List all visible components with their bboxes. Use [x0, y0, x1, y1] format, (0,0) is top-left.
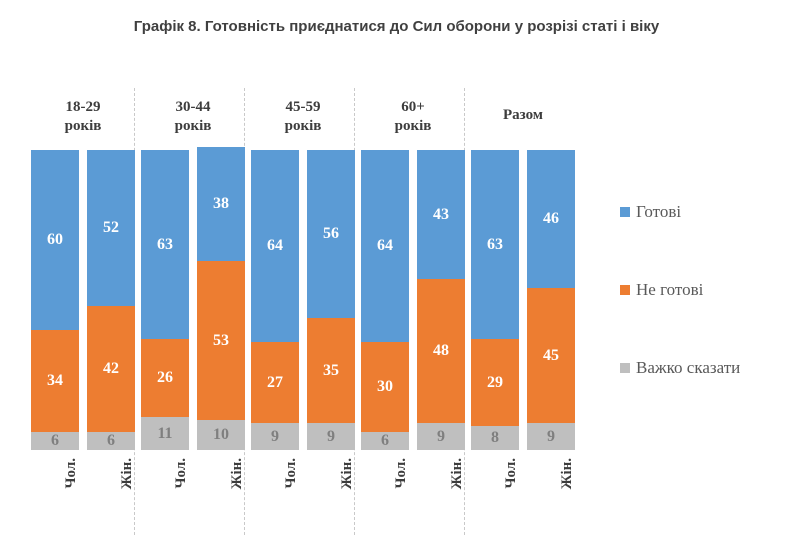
- bar-value-label: 56: [323, 226, 339, 242]
- bar-column[interactable]: 60346: [31, 150, 79, 450]
- bar-value-label: 29: [487, 375, 503, 391]
- bar-segment-hard-to-say[interactable]: 11: [141, 417, 189, 450]
- group-header-line2: років: [141, 117, 245, 136]
- bar-segment-not-ready[interactable]: 42: [87, 306, 135, 432]
- bar-value-label: 48: [433, 343, 449, 359]
- bar-value-label: 6: [381, 433, 389, 449]
- bar-segment-not-ready[interactable]: 45: [527, 288, 575, 423]
- bar-value-label: 52: [103, 220, 119, 236]
- bar-value-label: 8: [491, 430, 499, 446]
- bar-value-label: 46: [543, 211, 559, 227]
- bar-segment-hard-to-say[interactable]: 10: [197, 420, 245, 450]
- x-axis-label: Жін.: [559, 458, 576, 489]
- legend-label: Не готові: [636, 280, 703, 300]
- group-header-2: 30-44років: [141, 98, 245, 136]
- group-header-line1: 60+: [361, 98, 465, 117]
- bar-value-label: 30: [377, 379, 393, 395]
- bar-segment-hard-to-say[interactable]: 8: [471, 426, 519, 450]
- chart-legend: ГотовіНе готовіВажко сказати: [620, 200, 793, 434]
- bar-segment-hard-to-say[interactable]: 9: [417, 423, 465, 450]
- bar-segment-hard-to-say[interactable]: 9: [307, 423, 355, 450]
- bar-value-label: 9: [547, 429, 555, 445]
- bar-column[interactable]: 43489: [417, 150, 465, 450]
- group-header-1: 18-29років: [31, 98, 135, 136]
- legend-swatch-hard-to-say: [620, 363, 630, 373]
- bar-segment-not-ready[interactable]: 34: [31, 330, 79, 432]
- group-header-line1: 18-29: [31, 98, 135, 117]
- x-axis-label: Жін.: [449, 458, 466, 489]
- bar-value-label: 10: [213, 427, 229, 443]
- group-header-line2: років: [251, 117, 355, 136]
- bar-segment-not-ready[interactable]: 27: [251, 342, 299, 423]
- x-axis-label: Жін.: [229, 458, 246, 489]
- bar-value-label: 64: [377, 238, 393, 254]
- bar-value-label: 11: [157, 426, 172, 442]
- bar-segment-hard-to-say[interactable]: 6: [361, 432, 409, 450]
- bar-segment-ready[interactable]: 56: [307, 150, 355, 318]
- group-header-line1: Разом: [471, 106, 575, 125]
- legend-item-1[interactable]: Не готові: [620, 278, 793, 302]
- bar-segment-ready[interactable]: 38: [197, 147, 245, 261]
- legend-item-2[interactable]: Важко сказати: [620, 356, 793, 380]
- x-axis-label: Чол.: [283, 458, 300, 488]
- bar-segment-ready[interactable]: 43: [417, 150, 465, 279]
- bar-value-label: 63: [157, 237, 173, 253]
- group-header-line1: 45-59: [251, 98, 355, 117]
- bar-value-label: 9: [271, 429, 279, 445]
- x-axis-label: Жін.: [119, 458, 136, 489]
- bar-value-label: 60: [47, 232, 63, 248]
- bar-segment-not-ready[interactable]: 35: [307, 318, 355, 423]
- bar-segment-hard-to-say[interactable]: 9: [251, 423, 299, 450]
- bar-value-label: 64: [267, 238, 283, 254]
- bar-value-label: 42: [103, 361, 119, 377]
- group-header-line2: років: [361, 117, 465, 136]
- legend-label: Готові: [636, 202, 681, 222]
- group-header-line2: років: [31, 117, 135, 136]
- group-header-3: 45-59років: [251, 98, 355, 136]
- legend-item-0[interactable]: Готові: [620, 200, 793, 224]
- bar-segment-not-ready[interactable]: 48: [417, 279, 465, 423]
- bar-segment-hard-to-say[interactable]: 9: [527, 423, 575, 450]
- x-axis-label: Чол.: [173, 458, 190, 488]
- bar-segment-not-ready[interactable]: 26: [141, 339, 189, 417]
- bar-value-label: 26: [157, 370, 173, 386]
- bar-value-label: 63: [487, 237, 503, 253]
- legend-label: Важко сказати: [636, 358, 740, 378]
- x-axis-label: Чол.: [393, 458, 410, 488]
- bar-segment-not-ready[interactable]: 30: [361, 342, 409, 432]
- bar-value-label: 43: [433, 207, 449, 223]
- bar-value-label: 45: [543, 348, 559, 364]
- bar-segment-ready[interactable]: 63: [471, 150, 519, 339]
- bar-segment-ready[interactable]: 46: [527, 150, 575, 288]
- bar-segment-not-ready[interactable]: 29: [471, 339, 519, 426]
- bar-segment-ready[interactable]: 63: [141, 150, 189, 339]
- chart-plot-area: 18-29років30-44років45-59років60+роківРа…: [0, 0, 600, 541]
- bar-column[interactable]: 64306: [361, 150, 409, 450]
- legend-swatch-not-ready: [620, 285, 630, 295]
- bar-segment-ready[interactable]: 64: [251, 150, 299, 342]
- bar-segment-ready[interactable]: 60: [31, 150, 79, 330]
- bar-value-label: 9: [437, 429, 445, 445]
- bar-segment-hard-to-say[interactable]: 6: [87, 432, 135, 450]
- bar-segment-ready[interactable]: 52: [87, 150, 135, 306]
- bar-segment-hard-to-say[interactable]: 6: [31, 432, 79, 450]
- bar-value-label: 6: [107, 433, 115, 449]
- x-axis-label: Чол.: [63, 458, 80, 488]
- bar-value-label: 35: [323, 363, 339, 379]
- bar-value-label: 34: [47, 373, 63, 389]
- bar-value-label: 9: [327, 429, 335, 445]
- bar-value-label: 6: [51, 433, 59, 449]
- bar-segment-not-ready[interactable]: 53: [197, 261, 245, 420]
- bar-column[interactable]: 56359: [307, 150, 355, 450]
- bar-segment-ready[interactable]: 64: [361, 150, 409, 342]
- bar-column[interactable]: 46459: [527, 150, 575, 450]
- bar-value-label: 27: [267, 375, 283, 391]
- bar-column[interactable]: 632611: [141, 150, 189, 450]
- bar-value-label: 38: [213, 196, 229, 212]
- x-axis-label: Чол.: [503, 458, 520, 488]
- group-header-4: 60+років: [361, 98, 465, 136]
- group-header-line1: 30-44: [141, 98, 245, 117]
- x-axis-label: Жін.: [339, 458, 356, 489]
- legend-swatch-ready: [620, 207, 630, 217]
- bar-column[interactable]: 385310: [197, 147, 245, 450]
- bar-column[interactable]: 64279: [251, 150, 299, 450]
- bar-value-label: 53: [213, 333, 229, 349]
- bar-column[interactable]: 63298: [471, 150, 519, 450]
- bar-column[interactable]: 52426: [87, 150, 135, 450]
- group-header-5: Разом: [471, 106, 575, 125]
